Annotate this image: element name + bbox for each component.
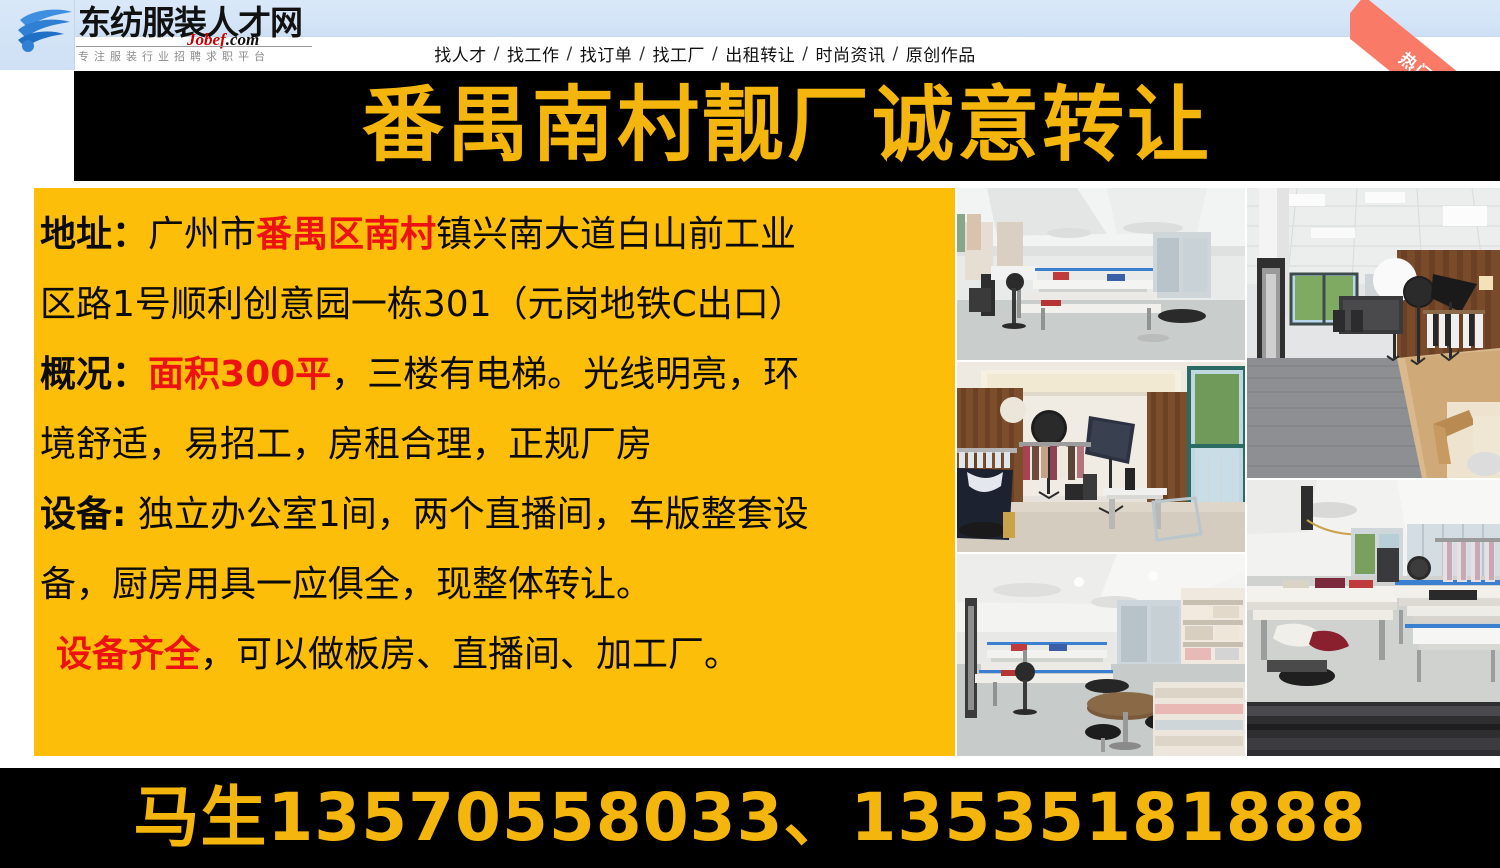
nav-item-3[interactable]: 找工厂 — [652, 41, 707, 66]
address-line-1-part: 广州市 — [148, 214, 256, 255]
nav-separator: / — [886, 44, 904, 64]
photo-workshop-bottom-right[interactable] — [1247, 480, 1500, 756]
closing-line: 设备齐全，可以做板房、直播间、加工厂。 — [40, 620, 945, 690]
nav-separator: / — [561, 44, 579, 64]
info-lines: 地址：广州市番禺区南村镇兴南大道白山前工业区路1号顺利创意园一栋301（元岗地铁… — [34, 188, 955, 690]
contact-footer: 马生13570558033、13535181888 — [0, 768, 1500, 868]
top-nav[interactable]: 找人才 / 找工作 / 找订单 / 找工厂 / 出租转让 / 时尚资讯 / 原创… — [0, 37, 1410, 70]
equipment-line-1: 设备: 独立办公室1间，两个直播间，车版整套设 — [40, 480, 945, 550]
overview-line-2: 境舒适，易招工，房租合理，正规厂房 — [40, 410, 945, 480]
contact-phones[interactable]: 马生13570558033、13535181888 — [133, 785, 1366, 851]
nav-item-4[interactable]: 出租转让 — [724, 41, 796, 66]
nav-item-0[interactable]: 找人才 — [433, 41, 488, 66]
equipment-line-1-part: 独立办公室1间，两个直播间，车版整套设 — [126, 494, 808, 535]
overview-line-1-part: ，三楼有电梯。光线明亮，环 — [331, 354, 799, 395]
address-line-2-part: 区路1号顺利创意园一栋301（元岗地铁C出口） — [40, 284, 805, 325]
overview-line-1-part: 概况： — [40, 354, 148, 395]
page-root: 东纺服装人才网 Jobef.com 专注服装行业招聘求职平台 找人才 / 找工作… — [0, 0, 1500, 868]
closing-line-part: ，可以做板房、直播间、加工厂。 — [200, 634, 740, 675]
nav-separator: / — [796, 44, 814, 64]
hot-recommend-ribbon[interactable]: 热门推荐 — [1350, 0, 1500, 78]
nav-separator: / — [488, 44, 506, 64]
info-panel: 地址：广州市番禺区南村镇兴南大道白山前工业区路1号顺利创意园一栋301（元岗地铁… — [34, 188, 955, 756]
closing-line-part: 设备齐全 — [56, 634, 200, 675]
photo-workshop-bottom-left[interactable] — [957, 554, 1245, 756]
ad-title-bar: 番禺南村靓厂诚意转让 — [74, 71, 1500, 181]
overview-line-1: 概况：面积300平，三楼有电梯。光线明亮，环 — [40, 340, 945, 410]
address-line-1: 地址：广州市番禺区南村镇兴南大道白山前工业 — [40, 200, 945, 270]
address-line-1-part: 地址： — [40, 214, 148, 255]
equipment-line-2: 备，厨房用具一应俱全，现整体转让。 — [40, 550, 945, 620]
ad-body: 地址：广州市番禺区南村镇兴南大道白山前工业区路1号顺利创意园一栋301（元岗地铁… — [0, 183, 1500, 768]
photo-studio-wood[interactable] — [957, 362, 1245, 552]
nav-item-1[interactable]: 找工作 — [506, 41, 561, 66]
equipment-line-1-part: 设备: — [40, 494, 126, 535]
page-title: 番禺南村靓厂诚意转让 — [362, 85, 1212, 167]
nav-item-6[interactable]: 原创作品 — [905, 41, 977, 66]
photo-workshop-top[interactable] — [957, 188, 1245, 360]
nav-separator: / — [633, 44, 651, 64]
photo-collage — [957, 188, 1500, 756]
overview-line-2-part: 境舒适，易招工，房租合理，正规厂房 — [40, 424, 652, 465]
nav-separator: / — [706, 44, 724, 64]
address-line-1-part: 番禺区南村 — [256, 214, 436, 255]
address-line-2: 区路1号顺利创意园一栋301（元岗地铁C出口） — [40, 270, 945, 340]
address-line-1-part: 镇兴南大道白山前工业 — [436, 214, 796, 255]
equipment-line-2-part: 备，厨房用具一应俱全，现整体转让。 — [40, 564, 652, 605]
overview-line-1-part: 面积300平 — [148, 354, 331, 395]
nav-item-2[interactable]: 找订单 — [579, 41, 634, 66]
nav-item-5[interactable]: 时尚资讯 — [814, 41, 886, 66]
photo-office-carpet[interactable] — [1247, 188, 1500, 478]
